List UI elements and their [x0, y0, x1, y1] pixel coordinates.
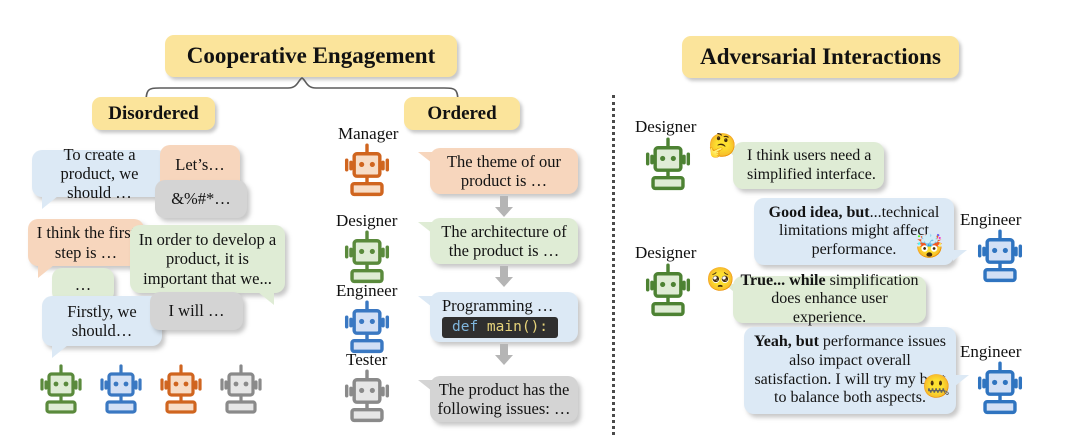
bubble-text: The theme of our product is … [437, 152, 571, 190]
bubble-text: I think users need a simplified interfac… [747, 147, 877, 184]
bubble-text: The architecture of the product is … [437, 222, 571, 260]
bubble-text: True... while simplification does enhanc… [740, 272, 919, 328]
bubble-bold-prefix: Yeah, but [754, 333, 819, 350]
diagram-canvas: Cooperative Engagement Disordered Ordere… [0, 0, 1080, 442]
bubble-nub [955, 375, 969, 386]
bubble-bold-prefix: True... while [741, 272, 826, 289]
disordered-agent-row [38, 363, 264, 426]
bubble-text: Firstly, we should… [49, 302, 155, 340]
role-label-engineer: Engineer [336, 281, 397, 301]
bubble-text: To create a product, we should … [39, 145, 160, 202]
pleading-face-emoji: 🥺 [706, 268, 735, 291]
bubble-text: In order to develop a product, it is imp… [137, 230, 278, 287]
flow-arrow-2 [495, 266, 513, 293]
bubble-text: Yeah, but performance issues also impact… [751, 333, 949, 407]
bubble-disordered-3[interactable]: &%#*… [155, 180, 247, 218]
ordered-pipeline: Manager The theme of our product is … De… [330, 0, 600, 442]
bubble-text: Let’s… [175, 155, 225, 174]
role-label-engineer-1: Engineer [960, 210, 1021, 230]
bubble-ordered-designer[interactable]: The architecture of the product is … [430, 218, 578, 264]
code-rest: main(): [478, 319, 548, 335]
bubble-tail [42, 196, 58, 209]
robot-orange-icon[interactable] [158, 363, 204, 426]
bubble-text: … [75, 275, 92, 294]
bubble-disordered-4[interactable]: I think the first step is … [28, 219, 144, 266]
robot-manager-icon[interactable] [342, 142, 392, 209]
bubble-adversarial-1[interactable]: I think users need a simplified interfac… [733, 142, 884, 189]
robot-tester-icon[interactable] [342, 368, 392, 435]
robot-engineer-icon[interactable] [974, 228, 1026, 295]
bubble-adversarial-4[interactable]: Yeah, but performance issues also impact… [744, 327, 956, 414]
robot-designer-icon[interactable] [642, 136, 694, 203]
exploding-head-emoji: 🤯 [915, 235, 944, 258]
bubble-text: The product has the following issues: … [437, 380, 571, 418]
robot-green-icon[interactable] [38, 363, 84, 426]
code-keyword: def [452, 319, 478, 335]
bubble-disordered-5[interactable]: In order to develop a product, it is imp… [130, 225, 285, 293]
thinking-face-emoji: 🤔 [708, 134, 737, 157]
code-snippet: def main(): [442, 317, 558, 339]
bubble-text: Programming … [442, 296, 553, 315]
bubble-text: I think the first step is … [35, 223, 137, 261]
bubble-adversarial-3[interactable]: True... while simplification does enhanc… [733, 276, 926, 323]
bubble-ordered-engineer[interactable]: Programming … def main(): [430, 292, 578, 342]
bubble-ordered-manager[interactable]: The theme of our product is … [430, 148, 578, 194]
role-label-designer: Designer [336, 211, 397, 231]
role-label-tester: Tester [346, 350, 387, 370]
zipper-mouth-face-emoji: 🤐 [922, 375, 951, 398]
bubble-tail [258, 292, 274, 305]
bubble-disordered-7[interactable]: Firstly, we should… [42, 296, 162, 346]
bubble-disordered-1[interactable]: To create a product, we should … [32, 150, 167, 197]
robot-engineer-icon[interactable] [974, 360, 1026, 427]
robot-blue-icon[interactable] [98, 363, 144, 426]
bubble-ordered-tester[interactable]: The product has the following issues: … [430, 376, 578, 422]
role-label-designer-2: Designer [635, 243, 696, 263]
bubble-bold-prefix: Good idea, but [769, 204, 870, 221]
disordered-cluster: To create a product, we should … Let’s… … [0, 0, 330, 442]
bubble-disordered-8[interactable]: I will … [150, 292, 243, 330]
role-label-designer-1: Designer [635, 117, 696, 137]
bubble-text: &%#*… [171, 189, 231, 208]
flow-arrow-3 [495, 344, 513, 371]
bubble-text: I will … [169, 301, 225, 320]
bubble-nub [953, 250, 967, 261]
role-label-manager: Manager [338, 124, 398, 144]
role-label-engineer-2: Engineer [960, 342, 1021, 362]
adversarial-cluster: Designer I think users need a simplified… [612, 0, 1080, 442]
robot-gray-icon[interactable] [218, 363, 264, 426]
bubble-tail [52, 345, 68, 358]
robot-designer-icon[interactable] [642, 262, 694, 329]
